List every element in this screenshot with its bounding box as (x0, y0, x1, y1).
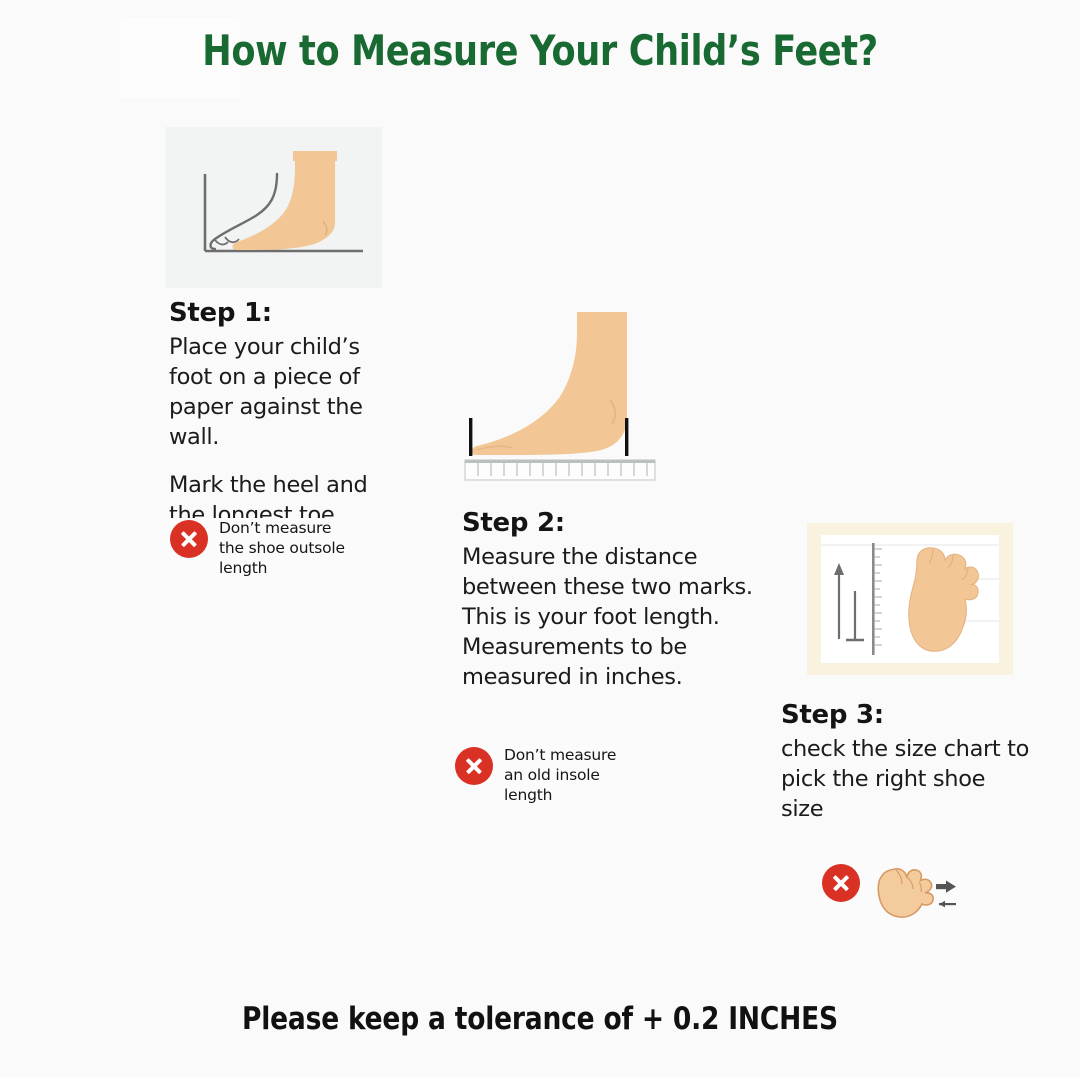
tolerance-note: Please keep a tolerance of + 0.2 INCHES (27, 1001, 1053, 1037)
foot-sole-on-chart-graphic (821, 535, 999, 663)
red-x-circle-icon (822, 864, 860, 902)
foot-sole-shape (909, 548, 979, 651)
arrow-left-icon (939, 901, 956, 908)
vertical-ruler-line (872, 543, 875, 655)
step-2-text-block: Step 2: Measure the distance between the… (462, 508, 782, 692)
step-3-heading: Step 3: (781, 700, 1031, 730)
ruler-edge (465, 460, 655, 463)
step-2-warning: Don’t measure an old insole length (455, 745, 650, 805)
red-x-circle-icon (455, 747, 493, 785)
step-2-warning-text: Don’t measure an old insole length (504, 745, 616, 805)
step-3-paragraph-1: check the size chart to pick the right s… (781, 734, 1031, 824)
toe-trace-1 (215, 240, 228, 244)
reference-marker-icon (846, 591, 864, 640)
step-2-heading: Step 2: (462, 508, 782, 538)
toe-mark (469, 418, 472, 456)
arrow-right-icon (936, 881, 956, 893)
step-1-paragraph-1: Place your child’s foot on a piece of pa… (169, 332, 409, 452)
ankle-shape (293, 151, 337, 161)
step-3-illustration (807, 523, 1013, 675)
toe-trace-2 (225, 237, 239, 242)
foot-shape (471, 312, 627, 455)
foot-shape (233, 157, 336, 250)
step-1-warning-text: Don’t measure the shoe outsole length (219, 518, 345, 578)
step-3-chart-panel (821, 535, 999, 663)
mini-foot-sole-shape (878, 869, 933, 917)
infographic-canvas: How to Measure Your Child’s Feet? Step 1… (0, 0, 1080, 1077)
step-2-paragraph-1: Measure the distance between these two m… (462, 542, 782, 692)
step-1-heading: Step 1: (169, 298, 409, 328)
step-1-illustration (165, 127, 382, 288)
step-1-text-block: Step 1: Place your child’s foot on a pie… (169, 298, 409, 530)
heel-mark (625, 418, 628, 456)
foot-profile-with-ruler-graphic (455, 300, 685, 490)
vertical-ruler-ticks (875, 549, 882, 645)
foot-sole-with-arrows-icon (874, 862, 958, 922)
step-2-illustration (455, 300, 685, 490)
foot-sole-arrows-graphic (874, 862, 958, 922)
step-1-warning: Don’t measure the shoe outsole length (170, 518, 360, 578)
step-3-warning (822, 862, 1002, 922)
foot-profile-traced-against-wall-graphic (165, 127, 382, 288)
red-x-circle-icon (170, 520, 208, 558)
length-arrow-icon (834, 563, 844, 639)
step-3-text-block: Step 3: check the size chart to pick the… (781, 700, 1031, 824)
page-title: How to Measure Your Child’s Feet? (38, 26, 1042, 75)
